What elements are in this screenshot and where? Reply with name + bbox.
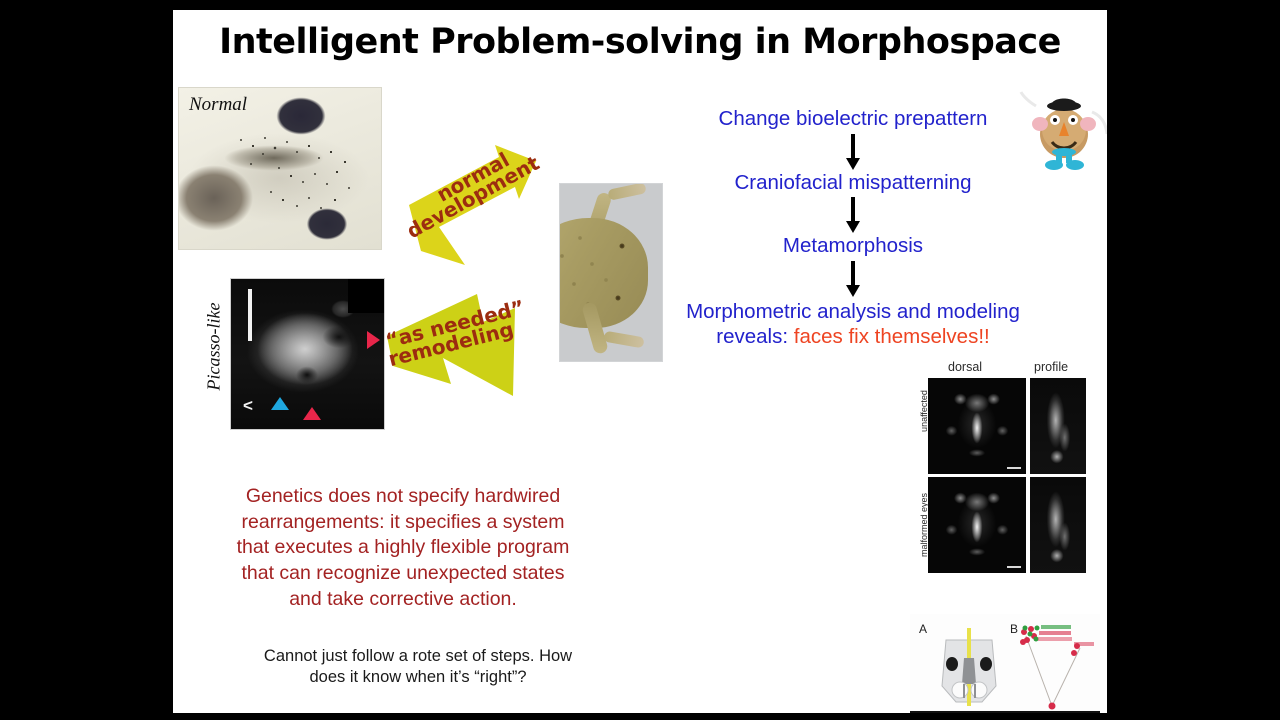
as-needed-remodeling-arrow: “as needed” remodeling xyxy=(385,292,540,402)
experiment-flow-chart: Change bioelectric prepattern Craniofaci… xyxy=(653,108,1053,349)
normal-tadpole-image: Normal xyxy=(178,87,382,250)
adult-frog-image xyxy=(559,183,663,362)
black-paragraph-line: does it know when it’s “right”? xyxy=(218,667,618,688)
ct-scale-bar xyxy=(1007,566,1021,568)
ct-unaffected-profile-image xyxy=(1030,378,1086,474)
frog-skin-texture xyxy=(559,218,648,328)
skull-render xyxy=(928,378,1026,474)
blue-arrowhead-up-icon xyxy=(271,397,289,410)
ct-scale-bar xyxy=(1007,467,1021,469)
black-paragraph-line: Cannot just follow a rote set of steps. … xyxy=(218,646,618,667)
ct-malformed-dorsal-image xyxy=(928,477,1026,573)
ct-column-label-profile: profile xyxy=(1034,360,1068,374)
page-title: Intelligent Problem-solving in Morphospa… xyxy=(173,22,1107,62)
flow-conclusion: Morphometric analysis and modeling revea… xyxy=(653,299,1053,350)
red-paragraph-line: and take corrective action. xyxy=(203,587,603,613)
skull-render xyxy=(928,477,1026,573)
red-conclusion-paragraph: Genetics does not specify hardwired rear… xyxy=(203,484,603,613)
landmark-plot-graphic xyxy=(1014,622,1098,710)
flow-conclusion-line1: Morphometric analysis and modeling xyxy=(653,299,1053,324)
arrow-head xyxy=(846,221,860,233)
normal-label: Normal xyxy=(189,94,247,116)
arrow-shaft xyxy=(851,197,855,223)
frog-upper-foot xyxy=(607,183,646,201)
panel-a-letter: A xyxy=(919,622,927,636)
morphometric-ab-panel: A B xyxy=(910,614,1100,713)
mr-potato-head-graphic xyxy=(1018,90,1107,172)
normal-development-arrow: normal development xyxy=(399,145,549,265)
head-schematic-graphic xyxy=(938,628,1000,706)
red-paragraph-line: rearrangements: it specifies a system xyxy=(203,510,603,536)
red-paragraph-line: Genetics does not specify hardwired xyxy=(203,484,603,510)
image-dark-corner xyxy=(348,279,384,313)
ct-unaffected-dorsal-image xyxy=(928,378,1026,474)
mr-potato-head-icon xyxy=(1018,90,1107,172)
flow-step-2: Craniofacial mispatterning xyxy=(653,172,1053,194)
arrow-head xyxy=(846,285,860,297)
red-paragraph-line: that can recognize unexpected states xyxy=(203,561,603,587)
flow-arrow-1-icon xyxy=(653,130,1053,172)
black-question-paragraph: Cannot just follow a rote set of steps. … xyxy=(218,646,618,689)
skull-render xyxy=(1030,378,1086,474)
skull-render xyxy=(1030,477,1086,573)
flow-arrow-2-icon xyxy=(653,193,1053,235)
flow-conclusion-line2: reveals: faces fix themselves!! xyxy=(653,324,1053,349)
ct-malformed-profile-image xyxy=(1030,477,1086,573)
flow-step-3: Metamorphosis xyxy=(653,235,1053,257)
scale-bar xyxy=(248,289,252,341)
flow-step-1: Change bioelectric prepattern xyxy=(653,108,1053,130)
ct-column-label-dorsal: dorsal xyxy=(948,360,982,374)
picasso-like-label: Picasso-like xyxy=(204,277,225,417)
flow-conclusion-prefix: reveals: xyxy=(716,325,793,348)
picasso-like-tadpole-image: < xyxy=(230,278,385,430)
red-paragraph-line: that executes a highly flexible program xyxy=(203,535,603,561)
frog-lower-foot xyxy=(603,331,644,349)
chevron-marker-icon: < xyxy=(243,397,253,414)
arrow-shaft xyxy=(851,261,855,287)
panel-bottom-divider xyxy=(910,711,1100,713)
flow-arrow-3-icon xyxy=(653,257,1053,299)
slide-canvas: Intelligent Problem-solving in Morphospa… xyxy=(173,10,1107,713)
flow-conclusion-accent: faces fix themselves!! xyxy=(794,325,990,348)
arrow-shaft xyxy=(851,134,855,160)
arrow-head xyxy=(846,158,860,170)
red-arrowhead-up-icon xyxy=(303,407,321,420)
picasso-like-panel: Picasso-like < xyxy=(185,278,385,440)
